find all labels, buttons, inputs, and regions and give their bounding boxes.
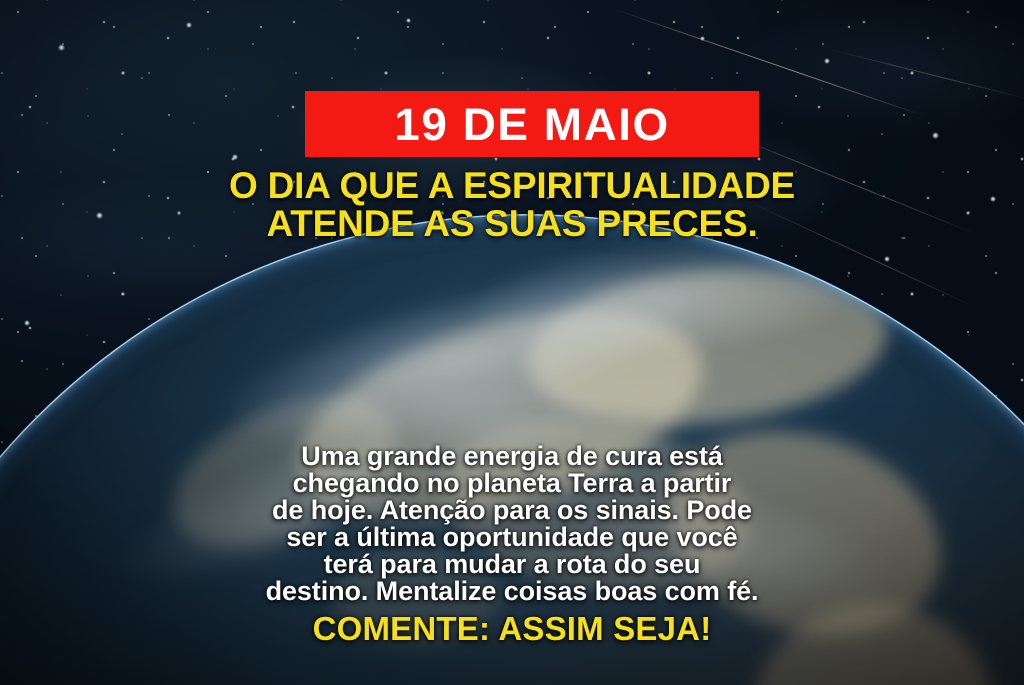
body-line-4: ser a última oportunidade que você (0, 524, 1024, 551)
body-line-3: de hoje. Atenção para os sinais. Pode (0, 497, 1024, 524)
body-line-5: terá para mudar a rota do seu (0, 551, 1024, 578)
body-line-2: chegando no planeta Terra a partir (0, 470, 1024, 497)
body-line-6: destino. Mentalize coisas boas com fé. (0, 578, 1024, 605)
poster-content: 19 DE MAIO O DIA QUE A ESPIRITUALIDADE A… (0, 0, 1024, 685)
date-banner: 19 DE MAIO (305, 91, 759, 157)
body-line-1: Uma grande energia de cura está (0, 443, 1024, 470)
headline-line-1: O DIA QUE A ESPIRITUALIDADE (0, 167, 1024, 205)
body-copy: Uma grande energia de cura está chegando… (0, 443, 1024, 605)
call-to-action: COMENTE: ASSIM SEJA! (0, 612, 1024, 645)
poster-canvas: 19 DE MAIO O DIA QUE A ESPIRITUALIDADE A… (0, 0, 1024, 685)
date-banner-label: 19 DE MAIO (394, 102, 669, 147)
headline: O DIA QUE A ESPIRITUALIDADE ATENDE AS SU… (0, 167, 1024, 243)
headline-line-2: ATENDE AS SUAS PRECES. (0, 205, 1024, 243)
